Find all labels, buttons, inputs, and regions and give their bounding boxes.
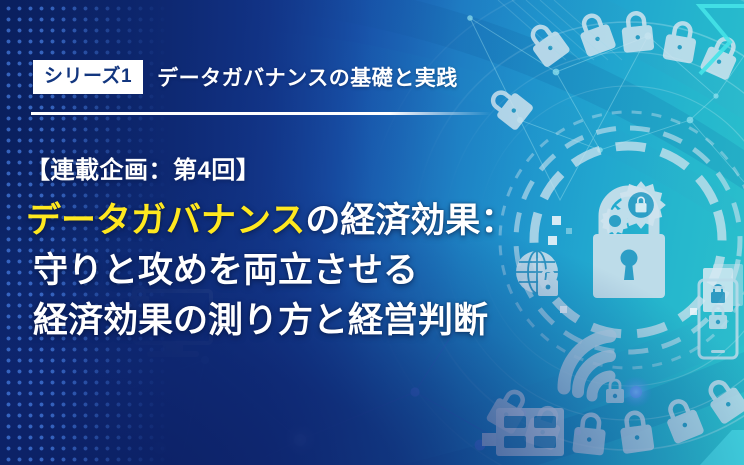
article-banner: シリーズ1 データガバナンスの基礎と実践 【連載企画：第4回】 データガバナンス…: [0, 0, 744, 465]
headline: データガバナンスの経済効果： 守りと攻めを両立させる 経済効果の測り方と経営判断: [26, 196, 586, 346]
headline-line-1: データガバナンスの経済効果：: [26, 196, 586, 246]
headline-line-3: 経済効果の測り方と経営判断: [26, 296, 586, 346]
banner-content: シリーズ1 データガバナンスの基礎と実践 【連載企画：第4回】 データガバナンス…: [0, 0, 520, 465]
issue-label: 【連載企画：第4回】: [26, 150, 260, 185]
series-title: データガバナンスの基礎と実践: [157, 62, 458, 92]
series-row: シリーズ1 データガバナンスの基礎と実践: [33, 60, 458, 94]
series-badge: シリーズ1: [33, 60, 143, 94]
headline-line-2: 守りと攻めを両立させる: [26, 246, 586, 296]
header-divider: [31, 112, 491, 115]
headline-accent-text: データガバナンス: [26, 201, 305, 240]
headline-line-1-rest: の経済効果：: [305, 201, 515, 240]
